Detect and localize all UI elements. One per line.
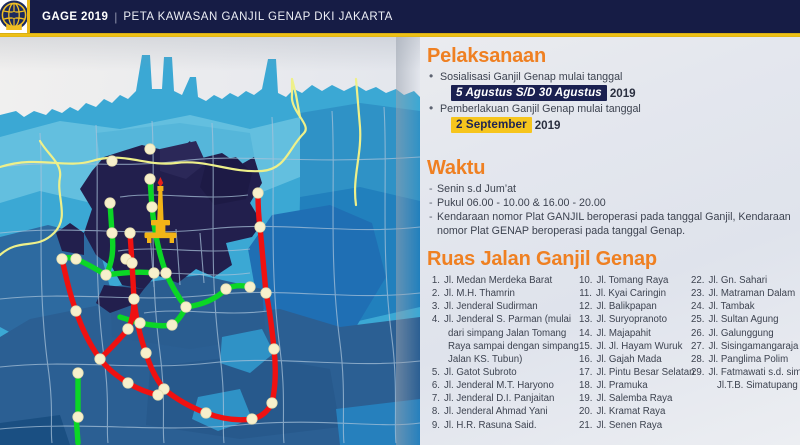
list-item: 18. Jl. Pramuka bbox=[579, 379, 691, 392]
globe-emblem-icon bbox=[0, 0, 30, 33]
item-number: 3. bbox=[427, 300, 444, 313]
list-item: 25. Jl. Sultan Agung bbox=[691, 313, 800, 326]
list-item: - Kendaraan nomor Plat GANJIL beroperasi… bbox=[429, 210, 799, 224]
list-item: 10. Jl. Tomang Raya bbox=[579, 274, 691, 287]
item-number: 21. bbox=[579, 419, 596, 432]
dash-icon: - bbox=[429, 210, 437, 224]
item-number: 16. bbox=[579, 353, 596, 366]
list-item: 23. Jl. Matraman Dalam bbox=[691, 287, 800, 300]
waktu-lines: - Senin s.d Jum’at - Pukul 06.00 - 10.00… bbox=[429, 182, 799, 239]
item-number: 10. bbox=[579, 274, 596, 287]
waktu-rule-line-2: nomor Plat GENAP beroperasi pada tanggal… bbox=[437, 224, 685, 238]
list-item: 22. Jl. Gn. Sahari bbox=[691, 274, 800, 287]
item-label: Jl. Jenderal Ahmad Yani bbox=[444, 405, 548, 418]
list-item: 5. Jl. Gatot Subroto bbox=[427, 366, 579, 379]
infographic-poster: GAGE 2019 | PETA KAWASAN GANJIL GENAP DK… bbox=[0, 0, 800, 445]
item-number: 7. bbox=[427, 392, 444, 405]
item-label: Jl. Jenderal S. Parman (mulai bbox=[444, 313, 571, 326]
list-item: 4. Jl. Jenderal S. Parman (mulai bbox=[427, 313, 579, 326]
item-number: 26. bbox=[691, 327, 708, 340]
item-number: 24. bbox=[691, 300, 708, 313]
list-item: 7. Jl. Jenderal D.I. Panjaitan bbox=[427, 392, 579, 405]
item-number: 14. bbox=[579, 327, 596, 340]
section-title-waktu: Waktu bbox=[427, 158, 799, 179]
item-label: Jl. Kyai Caringin bbox=[596, 287, 666, 300]
waktu-rule-line-1: Kendaraan nomor Plat GANJIL beroperasi p… bbox=[437, 210, 791, 224]
item-label: Jl. Gajah Mada bbox=[596, 353, 661, 366]
item-label: Jl. Gatot Subroto bbox=[444, 366, 517, 379]
item-label-continued: dari simpang Jalan Tomang bbox=[427, 327, 579, 340]
item-label: Jl. Majapahit bbox=[596, 327, 650, 340]
item-label: Jl. Balikpapan bbox=[596, 300, 656, 313]
bullet-icon: • bbox=[429, 102, 440, 116]
item-number: 15. bbox=[579, 340, 596, 353]
list-item: 5 Agustus S/D 30 Agustus 2019 bbox=[451, 85, 799, 101]
item-label: Jl. Panglima Polim bbox=[708, 353, 788, 366]
item-number: 20. bbox=[579, 405, 596, 418]
header-subtitle: PETA KAWASAN GANJIL GENAP DKI JAKARTA bbox=[123, 11, 392, 23]
list-item: 27. Jl. Sisingamangaraja bbox=[691, 340, 800, 353]
item-label: Jl. Sultan Agung bbox=[708, 313, 778, 326]
waktu-days: Senin s.d Jum’at bbox=[437, 182, 516, 196]
section-title-ruas-jalan: Ruas Jalan Ganjil Genap bbox=[427, 249, 800, 270]
item-label: Jl. Jenderal D.I. Panjaitan bbox=[444, 392, 554, 405]
item-number: 27. bbox=[691, 340, 708, 353]
list-item: 13. Jl. Suryopranoto bbox=[579, 313, 691, 326]
list-item: 24. Jl. Tambak bbox=[691, 300, 800, 313]
item-number: 23. bbox=[691, 287, 708, 300]
item-label: Jl. Jenderal M.T. Haryono bbox=[444, 379, 554, 392]
item-label: Jl. Sisingamangaraja bbox=[708, 340, 798, 353]
item-number: 9. bbox=[427, 419, 444, 432]
list-item: 6. Jl. Jenderal M.T. Haryono bbox=[427, 379, 579, 392]
list-item: 29. Jl. Fatmawati s.d. simpang bbox=[691, 366, 800, 379]
item-label: Jl. Salemba Raya bbox=[596, 392, 672, 405]
item-number: 6. bbox=[427, 379, 444, 392]
header-separator: | bbox=[114, 10, 117, 24]
item-number: 17. bbox=[579, 366, 596, 379]
info-panel: Pelaksanaan • Sosialisasi Ganjil Genap m… bbox=[424, 46, 800, 445]
list-item: 2. Jl. M.H. Thamrin bbox=[427, 287, 579, 300]
item-number: 12. bbox=[579, 300, 596, 313]
list-item: 12. Jl. Balikpapan bbox=[579, 300, 691, 313]
item-label: Jl. Jl. Hayam Wuruk bbox=[596, 340, 682, 353]
item-number: 5. bbox=[427, 366, 444, 379]
ruas-column-3: 22. Jl. Gn. Sahari 23. Jl. Matraman Dala… bbox=[691, 274, 800, 432]
list-item: 16. Jl. Gajah Mada bbox=[579, 353, 691, 366]
sosialisasi-year: 2019 bbox=[607, 87, 636, 100]
item-label: Jl. Pramuka bbox=[596, 379, 647, 392]
status-badge-sosialisasi-date: 5 Agustus S/D 30 Agustus bbox=[451, 85, 607, 101]
dash-icon: - bbox=[429, 182, 437, 196]
item-label: Jl. H.R. Rasuna Said. bbox=[444, 419, 537, 432]
pelaksanaan-line-1: Sosialisasi Ganjil Genap mulai tanggal bbox=[440, 70, 622, 84]
item-label: Jl. Kramat Raya bbox=[596, 405, 665, 418]
item-label-continued: Jl.T.B. Simatupang bbox=[691, 379, 800, 392]
item-number: 4. bbox=[427, 313, 444, 326]
item-label: Jl. Medan Merdeka Barat bbox=[444, 274, 552, 287]
pelaksanaan-items: • Sosialisasi Ganjil Genap mulai tanggal… bbox=[429, 70, 799, 133]
header-brand: GAGE 2019 bbox=[42, 11, 108, 23]
item-number: 1. bbox=[427, 274, 444, 287]
list-item: 17. Jl. Pintu Besar Selatan bbox=[579, 366, 691, 379]
item-label: Jl. Gn. Sahari bbox=[708, 274, 767, 287]
item-label: Jl. Tambak bbox=[708, 300, 754, 313]
list-item: - Senin s.d Jum’at bbox=[429, 182, 799, 196]
section-title-pelaksanaan: Pelaksanaan bbox=[427, 46, 799, 67]
pemberlakuan-year: 2019 bbox=[532, 119, 561, 132]
item-number: 28. bbox=[691, 353, 708, 366]
item-number: 11. bbox=[579, 287, 596, 300]
list-item: 2 September 2019 bbox=[451, 117, 799, 133]
item-label: Jl. Tomang Raya bbox=[596, 274, 668, 287]
item-number: 8. bbox=[427, 405, 444, 418]
list-item: nomor Plat GENAP beroperasi pada tanggal… bbox=[429, 224, 799, 238]
list-item: 19. Jl. Salemba Raya bbox=[579, 392, 691, 405]
item-number: 2. bbox=[427, 287, 444, 300]
item-number: 13. bbox=[579, 313, 596, 326]
item-number: 29. bbox=[691, 366, 708, 379]
ruas-column-2: 10. Jl. Tomang Raya 11. Jl. Kyai Caringi… bbox=[579, 274, 691, 432]
section-pelaksanaan: Pelaksanaan • Sosialisasi Ganjil Genap m… bbox=[427, 46, 799, 134]
list-item: 20. Jl. Kramat Raya bbox=[579, 405, 691, 418]
item-number: 25. bbox=[691, 313, 708, 326]
list-item: 8. Jl. Jenderal Ahmad Yani bbox=[427, 405, 579, 418]
list-item: 28. Jl. Panglima Polim bbox=[691, 353, 800, 366]
jakarta-map-panel bbox=[0, 37, 420, 445]
item-label-continued: Jalan KS. Tubun) bbox=[427, 353, 579, 366]
item-label: Jl. Fatmawati s.d. simpang bbox=[708, 366, 800, 379]
item-label: Jl. Galunggung bbox=[708, 327, 773, 340]
list-item: • Pemberlakuan Ganjil Genap mulai tangga… bbox=[429, 102, 799, 116]
list-item: • Sosialisasi Ganjil Genap mulai tanggal bbox=[429, 70, 799, 84]
list-item: 15. Jl. Jl. Hayam Wuruk bbox=[579, 340, 691, 353]
status-badge-pemberlakuan-date: 2 September bbox=[451, 117, 532, 133]
page-header: GAGE 2019 | PETA KAWASAN GANJIL GENAP DK… bbox=[0, 0, 800, 37]
section-waktu: Waktu - Senin s.d Jum’at - Pukul 06.00 -… bbox=[427, 158, 799, 239]
item-label: Jl. Jenderal Sudirman bbox=[444, 300, 538, 313]
list-item: - Pukul 06.00 - 10.00 & 16.00 - 20.00 bbox=[429, 196, 799, 210]
list-item: 11. Jl. Kyai Caringin bbox=[579, 287, 691, 300]
header-title-group: GAGE 2019 | PETA KAWASAN GANJIL GENAP DK… bbox=[42, 0, 393, 33]
dash-icon: - bbox=[429, 196, 437, 210]
list-item: 3. Jl. Jenderal Sudirman bbox=[427, 300, 579, 313]
bullet-icon: • bbox=[429, 70, 440, 84]
section-ruas-jalan: Ruas Jalan Ganjil Genap 1. Jl. Medan Mer… bbox=[427, 249, 800, 432]
header-gold-rule bbox=[0, 33, 800, 37]
item-number: 22. bbox=[691, 274, 708, 287]
item-label: Jl. M.H. Thamrin bbox=[444, 287, 515, 300]
item-label: Jl. Senen Raya bbox=[596, 419, 662, 432]
item-label: Jl. Matraman Dalam bbox=[708, 287, 795, 300]
item-label-continued: Raya sampai dengan simpang bbox=[427, 340, 579, 353]
list-item: 1. Jl. Medan Merdeka Barat bbox=[427, 274, 579, 287]
ruas-columns: 1. Jl. Medan Merdeka Barat 2. Jl. M.H. T… bbox=[427, 274, 800, 432]
jakarta-map-svg bbox=[0, 37, 420, 445]
list-item: 26. Jl. Galunggung bbox=[691, 327, 800, 340]
pelaksanaan-line-2: Pemberlakuan Ganjil Genap mulai tanggal bbox=[440, 102, 641, 116]
waktu-hours: Pukul 06.00 - 10.00 & 16.00 - 20.00 bbox=[437, 196, 606, 210]
list-item: 9. Jl. H.R. Rasuna Said. bbox=[427, 419, 579, 432]
item-label: Jl. Pintu Besar Selatan bbox=[596, 366, 694, 379]
item-number: 19. bbox=[579, 392, 596, 405]
list-item: 21. Jl. Senen Raya bbox=[579, 419, 691, 432]
item-number: 18. bbox=[579, 379, 596, 392]
item-label: Jl. Suryopranoto bbox=[596, 313, 667, 326]
ruas-column-1: 1. Jl. Medan Merdeka Barat 2. Jl. M.H. T… bbox=[427, 274, 579, 432]
list-item: 14. Jl. Majapahit bbox=[579, 327, 691, 340]
